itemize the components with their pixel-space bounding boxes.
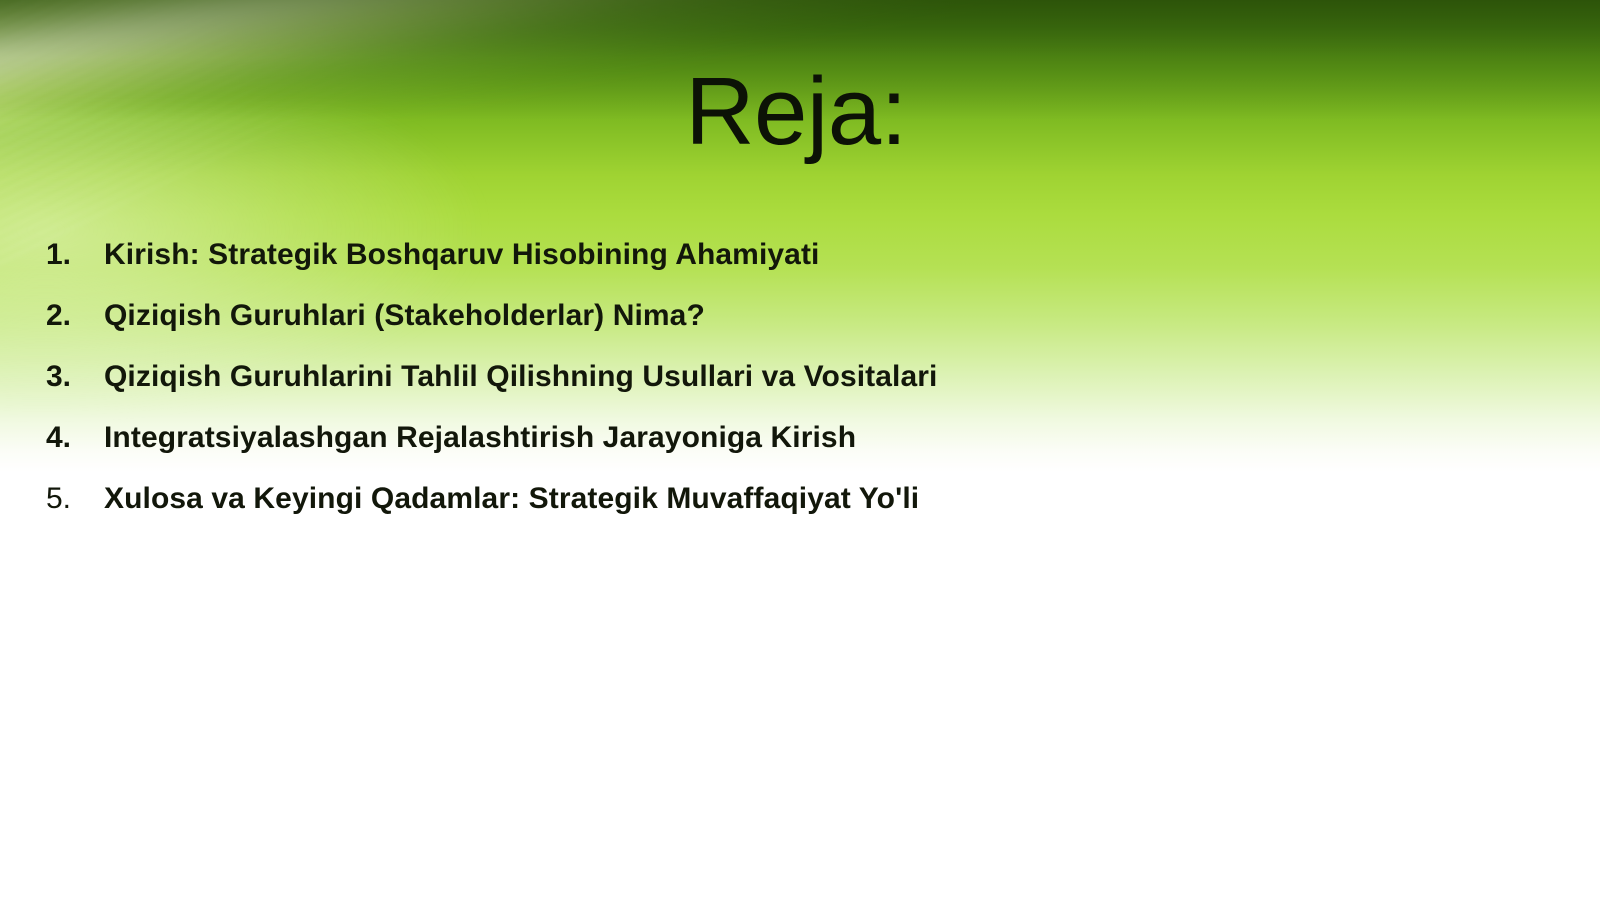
agenda-item-number: 2.	[46, 299, 104, 333]
presentation-slide: Reja: 1.Kirish: Strategik Boshqaruv Hiso…	[0, 0, 1600, 900]
list-item: 2.Qiziqish Guruhlari (Stakeholderlar) Ni…	[46, 299, 1446, 360]
slide-title: Reja:	[0, 62, 1600, 163]
list-item: 1.Kirish: Strategik Boshqaruv Hisobining…	[46, 238, 1446, 299]
agenda-item-number: 5.	[46, 482, 104, 516]
agenda-item-number: 1.	[46, 238, 104, 272]
agenda-item-number: 3.	[46, 360, 104, 394]
agenda-list: 1.Kirish: Strategik Boshqaruv Hisobining…	[46, 238, 1446, 543]
list-item: 4.Integratsiyalashgan Rejalashtirish Jar…	[46, 421, 1446, 482]
agenda-item-label: Qiziqish Guruhlarini Tahlil Qilishning U…	[104, 360, 937, 394]
agenda-item-label: Xulosa va Keyingi Qadamlar: Strategik Mu…	[104, 482, 919, 516]
list-item: 3.Qiziqish Guruhlarini Tahlil Qilishning…	[46, 360, 1446, 421]
agenda-item-number: 4.	[46, 421, 104, 455]
agenda-item-label: Qiziqish Guruhlari (Stakeholderlar) Nima…	[104, 299, 705, 333]
list-item: 5.Xulosa va Keyingi Qadamlar: Strategik …	[46, 482, 1446, 543]
agenda-item-label: Kirish: Strategik Boshqaruv Hisobining A…	[104, 238, 819, 272]
agenda-item-label: Integratsiyalashgan Rejalashtirish Jaray…	[104, 421, 856, 455]
